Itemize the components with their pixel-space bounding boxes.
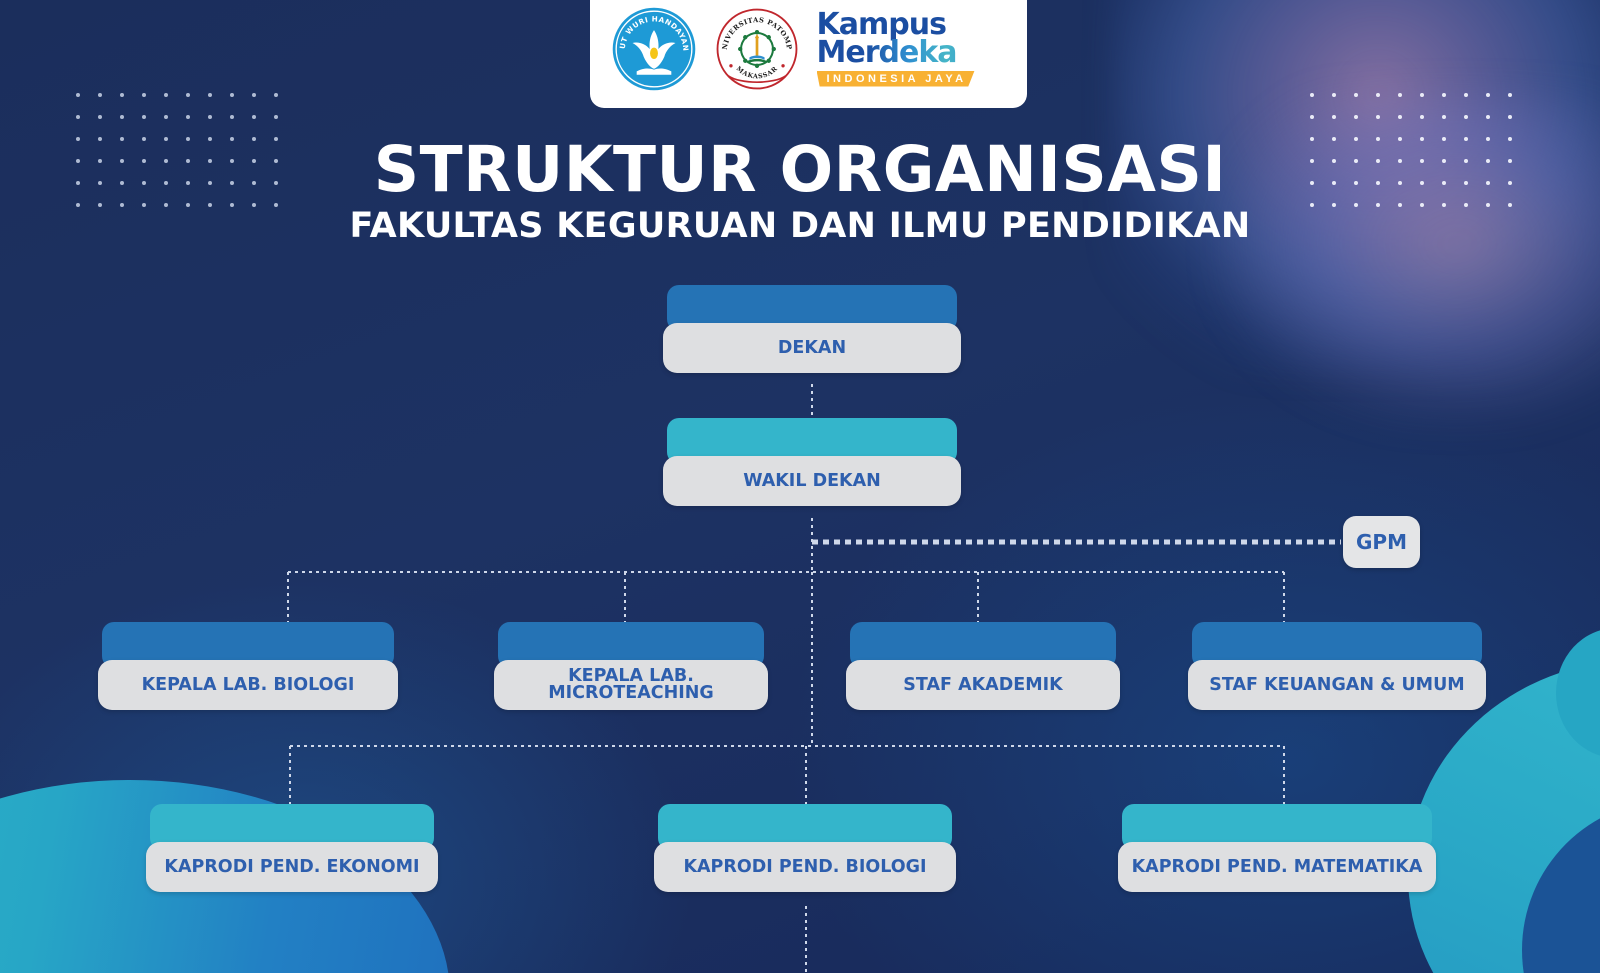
org-node-kaprodi-pend-ekonomi[interactable]: KAPRODI PEND. EKONOMI [146,804,438,892]
org-node-label: DEKAN [663,323,961,373]
org-node-wakil-dekan[interactable]: WAKIL DEKAN [663,418,961,506]
org-node-kepala-lab-biologi[interactable]: KEPALA LAB. BIOLOGI [98,622,398,710]
org-node-kaprodi-pend-biologi[interactable]: KAPRODI PEND. BIOLOGI [654,804,956,892]
org-node-label: KAPRODI PEND. EKONOMI [146,842,438,892]
org-node-label: STAF KEUANGAN & UMUM [1188,660,1486,710]
org-node-staf-keuangan-umum[interactable]: STAF KEUANGAN & UMUM [1188,622,1486,710]
org-node-staf-akademik[interactable]: STAF AKADEMIK [846,622,1120,710]
org-node-gpm[interactable]: GPM [1343,516,1420,568]
org-node-label: KAPRODI PEND. BIOLOGI [654,842,956,892]
org-node-label: GPM [1356,530,1407,554]
org-node-kaprodi-pend-matematika[interactable]: KAPRODI PEND. MATEMATIKA [1118,804,1436,892]
poster-canvas: TUT WURI HANDAYANI UNIVERSITAS PATOMPO M… [0,0,1600,973]
org-node-dekan[interactable]: DEKAN [663,285,961,373]
org-node-label: STAF AKADEMIK [846,660,1120,710]
org-node-label: WAKIL DEKAN [663,456,961,506]
org-node-label: KEPALA LAB. BIOLOGI [98,660,398,710]
org-node-label: KEPALA LAB.MICROTEACHING [494,660,768,710]
org-node-label: KAPRODI PEND. MATEMATIKA [1118,842,1436,892]
org-node-kepala-lab-microteaching[interactable]: KEPALA LAB.MICROTEACHING [494,622,768,710]
